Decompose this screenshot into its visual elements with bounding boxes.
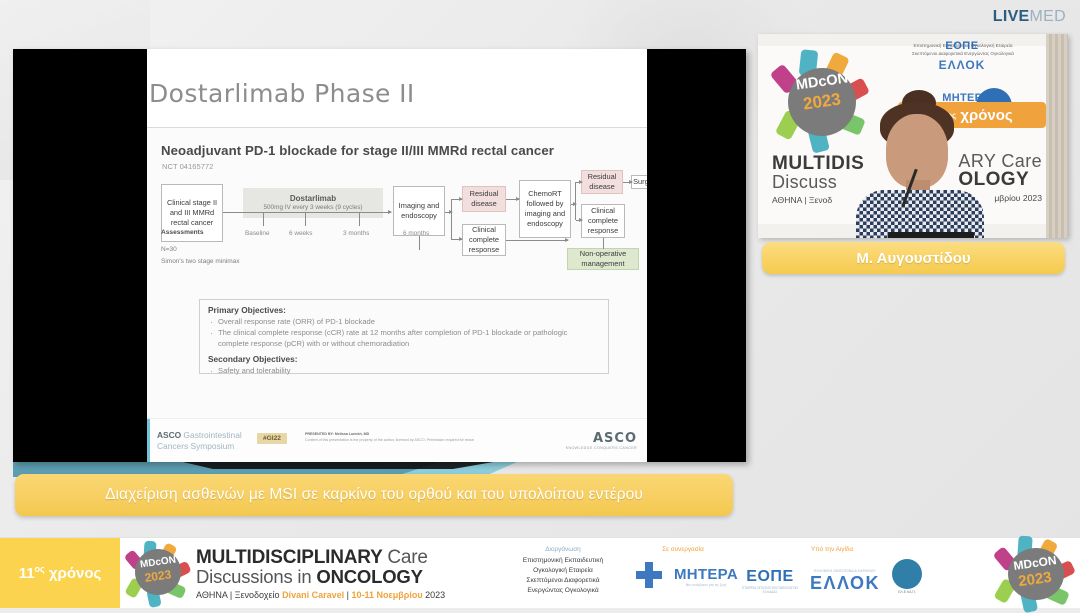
flow-connector-imaging-out [445,212,452,213]
bottom-venue-name: Divani Caravel [282,590,344,600]
primary-objectives-heading: Primary Objectives: [208,305,600,315]
flow-treatment-title: Dostarlimab [290,194,336,205]
bottom-mitera-tagline: Να νοιάζεσαι για τη ζωή [674,583,738,587]
bottom-title-multidisciplinary: MULTIDISCIPLINARY [196,547,382,568]
bottom-chronos-sup: ος [35,564,45,574]
flow-connector-to-ccr-2 [576,220,582,221]
flow-box-imaging: Imaging and endoscopy [393,186,445,236]
objectives-box: Primary Objectives: Overall response rat… [199,299,609,374]
backdrop-right-wall [1046,34,1068,238]
flow-box-surgery: Surgery [631,175,647,189]
flow-sample-size: N=30 [161,246,177,253]
flow-connector-residual2-to-surgery [623,182,632,183]
flow-connector-main [223,212,391,213]
bottom-venue-line: ΑΘΗΝΑ | Ξενοδοχείο Divani Caravel | 10-1… [196,590,445,600]
bottom-venue-separator: | [347,590,349,600]
flow-box-nonoperative: Non-operative management [567,248,639,270]
secondary-objectives-list: Safety and tolerability [208,366,600,377]
bottom-eope-sub: ΕΤΑΙΡΕΙΑ ΟΓΚΟΛΟΓΩΝ ΠΑΘΟΛΟΓΩΝ ΕΛΛΑΔΑΣ [742,586,798,594]
primary-objectives-list: Overall response rate (ORR) of PD-1 bloc… [208,317,600,349]
slide-content: Dostarlimab Phase II Neoadjuvant PD-1 bl… [147,49,647,462]
bottom-mdcon-badge: MDcON 2023 [126,543,190,603]
bottom-chronos-block: 11ος χρόνος [0,538,120,608]
flow-connector-residual-to-chemort [506,199,519,200]
speaker-name-text: Μ. Αυγουστίδου [856,250,970,267]
session-title-banner: Διαχείριση ασθενών με MSI σε καρκίνο του… [15,474,733,516]
bottom-venue-prefix: ΑΘΗΝΑ | Ξενοδοχείο [196,590,280,600]
bottom-collaboration-label: Σε συνεργασία [628,546,738,553]
speaker-figure [850,94,1000,238]
asco-brand-word: ASCO [566,431,637,446]
speaker-head [886,114,948,188]
asco-presented-by: PRESENTED BY: Melissa Lumish, MD [305,432,369,436]
backdrop-eope-logo: ΕΟΠΕ [902,40,1022,52]
bottom-eope-name: ΕΟΠΕ [742,568,798,586]
livemed-logo: LIVEMED [993,8,1066,26]
flow-tick-6months [419,236,420,250]
asco-symposium-logo: ASCO Gastrointestinal Cancers Symposium [157,430,242,451]
bottom-ellok-logo: ΕΛΛΗΝΙΚΗ ΟΜΟΣΠΟΝΔΙΑ ΚΑΡΚΙΝΟΥ ΕΛΛΟΚ [810,569,880,594]
session-title-text: Διαχείριση ασθενών με MSI σε καρκίνο του… [105,486,643,504]
flow-connector-to-residual-2 [576,182,582,183]
bottom-title-oncology: ONCOLOGY [316,566,422,587]
asco-logo-word: ASCO [157,430,181,440]
flow-box-ccr-1: Clinical complete response [462,224,506,256]
bottom-mitera-name: ΜΗΤΕΡΑ [674,566,738,583]
asco-logo-rest: Gastrointestinal [184,430,242,440]
backdrop-society-logos: ΕΟΠΕ ΕΛΛΟΚ [902,40,1022,72]
livemed-logo-live: LIVE [993,8,1030,25]
bottom-aegis-logos: ΕΟΠΕ ΕΤΑΙΡΕΙΑ ΟΓΚΟΛΟΓΩΝ ΠΑΘΟΛΟΓΩΝ ΕΛΛΑΔΑ… [742,559,922,594]
backdrop-ellok-logo: ΕΛΛΟΚ [902,58,1022,72]
bottom-title-line2: Discussions in ONCOLOGY [196,567,445,587]
flow-box-ccr-2: Clinical complete response [581,204,625,238]
secondary-objective-item: Safety and tolerability [218,366,600,377]
flow-connector-to-ccr-1 [451,239,462,240]
speaker-body [856,190,984,238]
bottom-chronos-number: 11 [19,565,35,582]
flow-design-note: Simon's two stage minimax [161,258,240,265]
bottom-mitera-logo: ΜΗΤΕΡΑ Να νοιάζεσαι για τη ζωή [628,562,738,590]
bottom-elekap-sub: ΕΛ.Ε.ΚΑ.Π. [892,590,922,594]
flow-box-chemort: ChemoRT followed by imaging and endoscop… [519,180,571,238]
bottom-eope-logo: ΕΟΠΕ ΕΤΑΙΡΕΙΑ ΟΓΚΟΛΟΓΩΝ ΠΑΘΟΛΟΓΩΝ ΕΛΛΑΔΑ… [742,568,798,594]
medical-cross-icon [636,562,662,588]
slide-subtitle: Neoadjuvant PD-1 blockade for stage II/I… [161,143,554,158]
flow-connector-ccr1-to-nonop [506,240,568,241]
bottom-right-mdcon-badge: MDcON 2023 [996,540,1074,606]
flow-timepoint-1: 6 weeks [289,230,312,237]
asco-logo-line2: Cancers Symposium [157,441,234,451]
bottom-event-title: MULTIDISCIPLINARY Care Discussions in ON… [196,548,445,600]
bottom-title-care: Care [387,547,427,568]
flow-timepoint-0: Baseline [245,230,270,237]
bottom-sponsor-bar: 11ος χρόνος MDcON 2023 MULTIDISCIPLINARY… [0,537,1080,608]
study-flow-diagram: Clinical stage II and III MMRd rectal ca… [147,174,647,294]
flow-box-residual-1: Residual disease [462,186,506,212]
flow-connector-chemort-out [571,204,576,205]
bottom-aegis-label: Υπό την Αιγίδα [742,546,922,553]
asco-footer: ASCO Gastrointestinal Cancers Symposium … [147,418,647,462]
trial-identifier: NCT 04165772 [162,162,213,171]
bottom-organizer-body: Επιστημονική Εκπαιδευτική Ογκολογική Ετα… [498,556,628,596]
lectern-top [888,232,974,238]
livemed-logo-med: MED [1030,8,1066,25]
asco-accent-bar [147,419,150,462]
flow-box-residual-2: Residual disease [581,170,623,194]
flow-connector-to-residual-1 [451,199,462,200]
asco-brand-logo: ASCO KNOWLEDGE CONQUERS CANCER [566,431,637,450]
presentation-slide-frame[interactable]: Dostarlimab Phase II Neoadjuvant PD-1 bl… [13,49,746,462]
flow-tick-3months [359,212,360,226]
flow-connector-imaging-split [451,199,452,239]
bottom-title-discussions: Discussions in [196,566,311,587]
bottom-event-year: 2023 [425,590,445,600]
bottom-title-line1: MULTIDISCIPLINARY Care [196,548,445,567]
primary-objective-item: Overall response rate (ORR) of PD-1 bloc… [218,317,600,328]
bottom-organizer-label: Διοργάνωση [498,546,628,553]
speaker-name-banner: Μ. Αυγουστίδου [762,242,1065,274]
slide-title: Dostarlimab Phase II [149,79,647,108]
bottom-chronos: 11ος χρόνος [19,564,102,582]
bottom-elekap-logo: ΕΛ.Ε.ΚΑ.Π. [892,559,922,594]
asco-presenter-note: PRESENTED BY: Melissa Lumish, MD Content… [305,432,495,444]
flow-box-treatment: Dostarlimab 500mg IV every 3 weeks (9 cy… [243,188,383,218]
elekap-circle-icon [892,559,922,589]
secondary-objectives-heading: Secondary Objectives: [208,354,600,364]
flow-assessments-label: Assessments [161,229,204,236]
bottom-event-dates: 10-11 Νοεμβρίου [351,590,422,600]
bottom-aegis-column: Υπό την Αιγίδα ΕΟΠΕ ΕΤΑΙΡΕΙΑ ΟΓΚΟΛΟΓΩΝ Π… [742,546,922,594]
flow-tick-6weeks [305,212,306,226]
bottom-organizer-column: Διοργάνωση Επιστημονική Εκπαιδευτική Ογκ… [498,546,628,596]
asco-rights-note: Content of this presentation is the prop… [305,438,475,442]
flow-tick-baseline [263,212,264,226]
speaker-video-panel[interactable]: MDcON 2023 Επιστημονική Εκπαιδευτική Ογκ… [758,34,1068,238]
bottom-collaboration-column: Σε συνεργασία ΜΗΤΕΡΑ Να νοιάζεσαι για τη… [628,546,738,590]
flow-connector-ccr2-to-nonop [603,238,604,249]
flow-timepoint-2: 3 months [343,230,369,237]
asco-hashtag-chip: #GI22 [257,433,287,444]
flow-timepoint-3: 6 months [403,230,429,237]
primary-objective-item: The clinical complete response (cCR) rat… [218,328,600,350]
bottom-chronos-word: χρόνος [49,565,101,582]
slide-body: Neoadjuvant PD-1 blockade for stage II/I… [147,128,647,418]
asco-brand-tagline: KNOWLEDGE CONQUERS CANCER [566,446,637,450]
bottom-ellok-name: ΕΛΛΟΚ [810,573,880,594]
